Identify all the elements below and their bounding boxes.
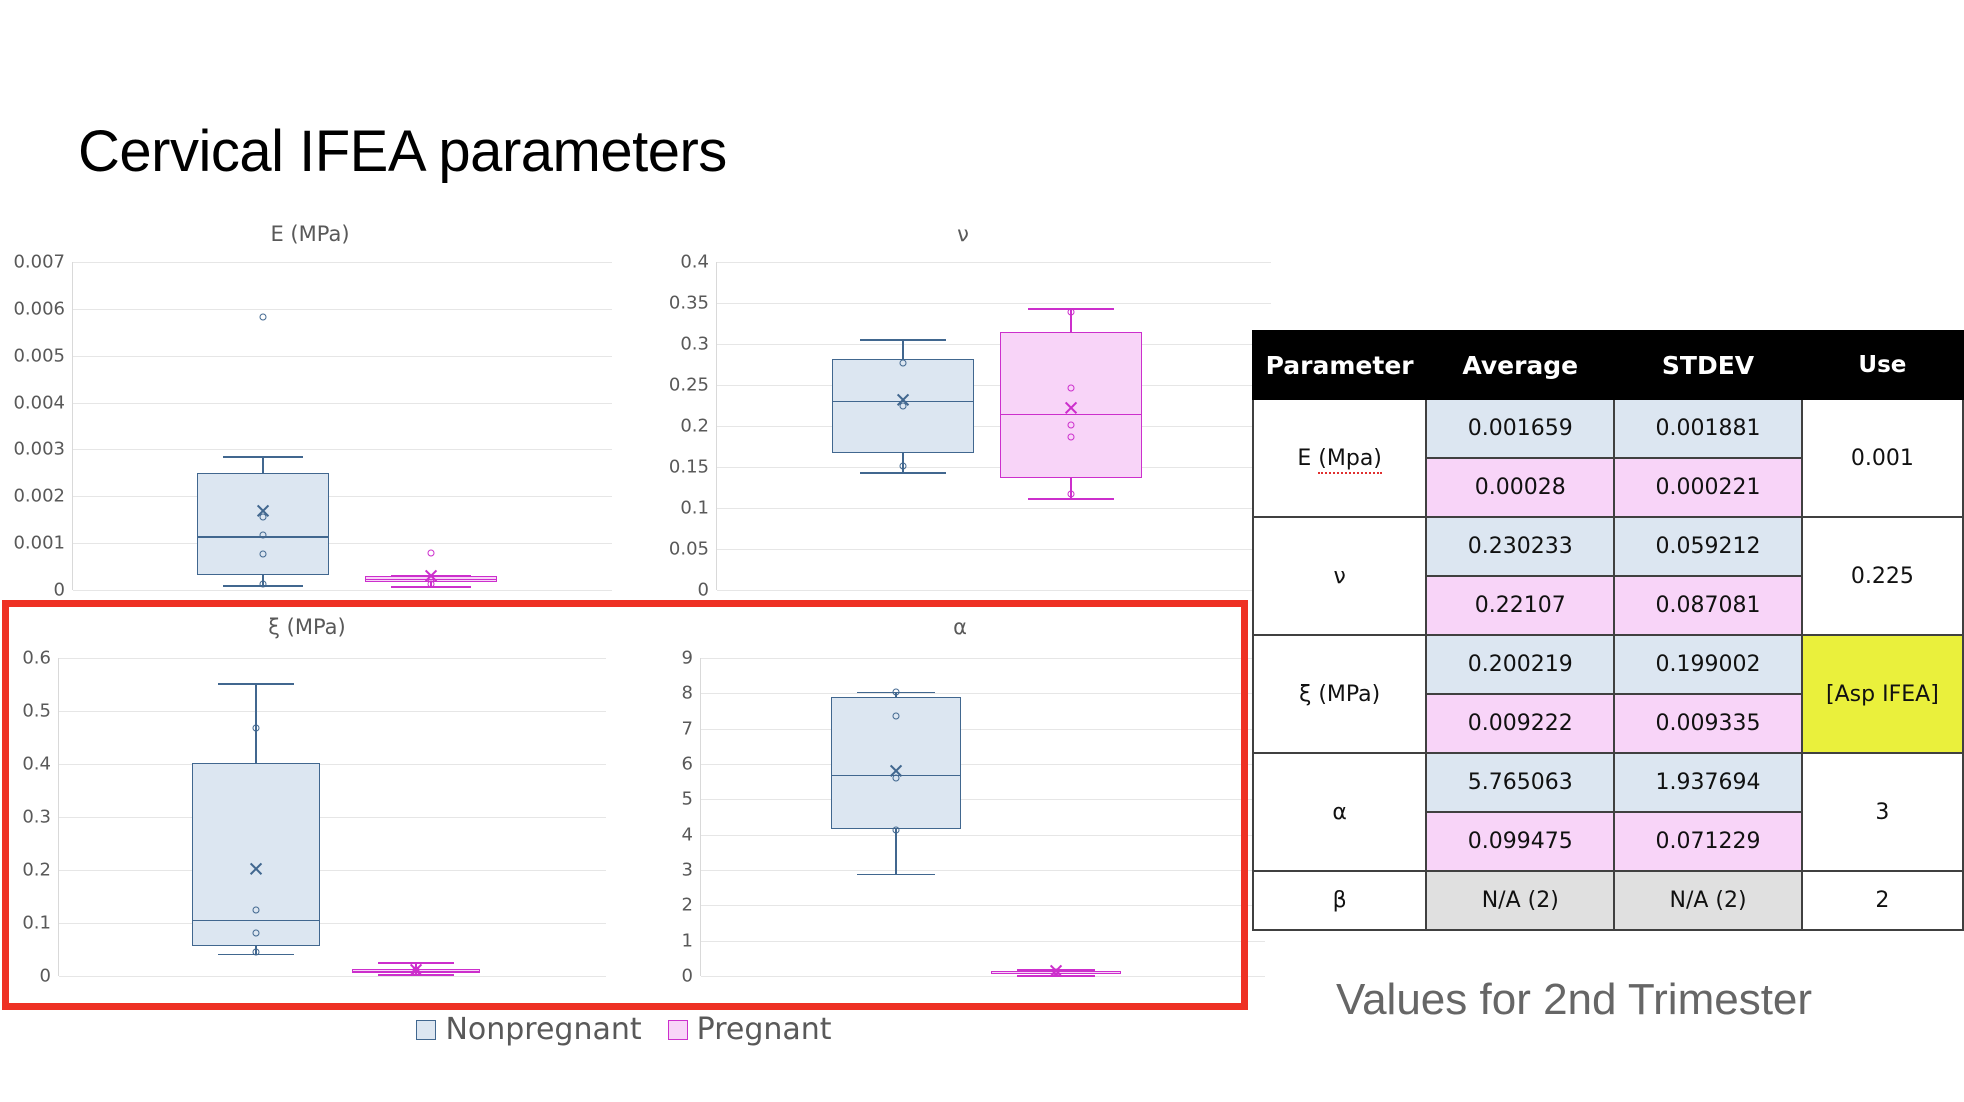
- y-axis-tick-label: 0.004: [13, 392, 65, 413]
- y-axis-tick-label: 2: [682, 895, 693, 916]
- col-header-use: Use: [1802, 331, 1963, 399]
- data-point: [1053, 969, 1060, 976]
- cell-average-pregnant: 0.22107: [1426, 576, 1614, 635]
- chart-title: ξ (MPa): [8, 615, 606, 639]
- cell-average-nonpregnant: 0.200219: [1426, 635, 1614, 694]
- data-point: [900, 359, 907, 366]
- cell-stdev-pregnant: 0.087081: [1614, 576, 1802, 635]
- y-axis-tick-label: 0.6: [22, 648, 51, 669]
- y-axis-tick-label: 0.15: [669, 457, 709, 478]
- y-axis-tick-label: 0.3: [680, 334, 709, 355]
- cell-average-pregnant: 0.099475: [1426, 812, 1614, 871]
- plot-area: 0123456789✕✕: [700, 658, 1265, 976]
- gridline: 0.003: [73, 449, 612, 450]
- gridline: 0.15: [717, 467, 1271, 468]
- legend-item-nonpregnant: Nonpregnant: [416, 1012, 641, 1047]
- cell-use: 2: [1802, 871, 1963, 930]
- data-point: [900, 402, 907, 409]
- y-axis-tick-label: 0: [40, 966, 51, 987]
- gridline: 0.05: [717, 549, 1271, 550]
- data-point: [893, 827, 900, 834]
- whisker-upper: [902, 339, 904, 359]
- gridline: 7: [701, 729, 1265, 730]
- data-point: [260, 514, 267, 521]
- y-axis-tick-label: 0.3: [22, 807, 51, 828]
- gridline: 0.1: [717, 508, 1271, 509]
- y-axis-tick-label: 0.006: [13, 298, 65, 319]
- gridline: 0.005: [73, 356, 612, 357]
- cell-average-nonpregnant: 0.001659: [1426, 399, 1614, 458]
- cell-use: 0.001: [1802, 399, 1963, 517]
- cell-stdev-pregnant: 0.071229: [1614, 812, 1802, 871]
- legend-swatch-icon: [668, 1020, 688, 1040]
- y-axis-tick-label: 0.35: [669, 293, 709, 314]
- table-header: Parameter Average STDEV Use: [1253, 331, 1963, 399]
- gridline: 6: [701, 764, 1265, 765]
- plot-area: 00.10.20.30.40.50.6✕✕: [58, 658, 606, 976]
- gridline: 0.3: [717, 344, 1271, 345]
- y-axis-tick-label: 0.4: [680, 252, 709, 273]
- table-row: ν0.2302330.0592120.225: [1253, 517, 1963, 576]
- data-point: [413, 969, 420, 976]
- table-caption: Values for 2nd Trimester: [1336, 975, 1812, 1025]
- gridline: 0.006: [73, 309, 612, 310]
- data-point: [260, 550, 267, 557]
- chart-legend: NonpregnantPregnant: [0, 1012, 1248, 1047]
- cap-upper: [860, 339, 945, 341]
- data-point: [260, 313, 267, 320]
- data-point: [1068, 309, 1075, 316]
- mean-marker: ✕: [247, 859, 265, 880]
- cap-upper: [218, 683, 295, 685]
- gridline: 0.002: [73, 496, 612, 497]
- y-axis-tick-label: 7: [682, 718, 693, 739]
- legend-label: Pregnant: [697, 1012, 832, 1047]
- col-header-stdev: STDEV: [1614, 331, 1802, 399]
- gridline: 0.4: [59, 764, 606, 765]
- y-axis-tick-label: 0.1: [680, 498, 709, 519]
- cap-lower: [857, 874, 935, 876]
- spellcheck-underline: (Mpa): [1318, 446, 1382, 474]
- data-point: [253, 930, 260, 937]
- y-axis-tick-label: 0.2: [22, 860, 51, 881]
- cell-average-na: N/A (2): [1426, 871, 1614, 930]
- table-row: ξ (MPa)0.2002190.199002[Asp IFEA]: [1253, 635, 1963, 694]
- cell-parameter: ν: [1253, 517, 1426, 635]
- data-point: [428, 549, 435, 556]
- y-axis-tick-label: 1: [682, 930, 693, 951]
- data-point: [893, 688, 900, 695]
- plot-area: 00.0010.0020.0030.0040.0050.0060.007✕✕: [72, 262, 612, 590]
- gridline: 0.001: [73, 543, 612, 544]
- y-axis-tick-label: 0.005: [13, 345, 65, 366]
- data-point: [893, 775, 900, 782]
- y-axis-tick-label: 0.2: [680, 416, 709, 437]
- median-line: [192, 920, 320, 922]
- gridline: 0.004: [73, 403, 612, 404]
- cell-use: 3: [1802, 753, 1963, 871]
- data-point: [260, 531, 267, 538]
- whisker-upper: [255, 683, 257, 764]
- gridline: 0.1: [59, 923, 606, 924]
- y-axis-tick-label: 0.4: [22, 754, 51, 775]
- whisker-upper: [262, 456, 264, 472]
- gridline: 0.007: [73, 262, 612, 263]
- legend-item-pregnant: Pregnant: [668, 1012, 832, 1047]
- col-header-average: Average: [1426, 331, 1614, 399]
- parameters-table: Parameter Average STDEV Use E (Mpa)0.001…: [1252, 330, 1964, 931]
- cell-average-pregnant: 0.00028: [1426, 458, 1614, 517]
- cell-stdev-pregnant: 0.009335: [1614, 694, 1802, 753]
- box-nonpregnant: [197, 473, 329, 575]
- y-axis-tick-label: 4: [682, 824, 693, 845]
- gridline: 0: [73, 590, 612, 591]
- y-axis-tick-label: 0.1: [22, 913, 51, 934]
- gridline: 1: [701, 941, 1265, 942]
- table-header-row: Parameter Average STDEV Use: [1253, 331, 1963, 399]
- cell-use: [Asp IFEA]: [1802, 635, 1963, 753]
- y-axis-tick-label: 5: [682, 789, 693, 810]
- cell-stdev-nonpregnant: 1.937694: [1614, 753, 1802, 812]
- table-row: E (Mpa)0.0016590.0018810.001: [1253, 399, 1963, 458]
- col-header-parameter: Parameter: [1253, 331, 1426, 399]
- y-axis-tick-label: 0.003: [13, 439, 65, 460]
- y-axis-tick-label: 0.002: [13, 486, 65, 507]
- y-axis-tick-label: 8: [682, 683, 693, 704]
- gridline: 5: [701, 799, 1265, 800]
- gridline: 8: [701, 693, 1265, 694]
- legend-swatch-icon: [416, 1020, 436, 1040]
- y-axis-tick-label: 6: [682, 754, 693, 775]
- data-point: [253, 948, 260, 955]
- cell-average-pregnant: 0.009222: [1426, 694, 1614, 753]
- data-point: [1068, 422, 1075, 429]
- data-point: [1068, 434, 1075, 441]
- table-row: βN/A (2)N/A (2)2: [1253, 871, 1963, 930]
- gridline: 0.4: [717, 262, 1271, 263]
- gridline: 0: [717, 590, 1271, 591]
- y-axis-tick-label: 0.5: [22, 701, 51, 722]
- gridline: 0.3: [59, 817, 606, 818]
- chart-title: ν: [655, 222, 1271, 246]
- plot-area: 00.050.10.150.20.250.30.350.4✕✕: [716, 262, 1271, 590]
- cap-upper: [223, 456, 302, 458]
- data-point: [893, 712, 900, 719]
- cell-average-nonpregnant: 0.230233: [1426, 517, 1614, 576]
- gridline: 0.2: [717, 426, 1271, 427]
- y-axis-tick-label: 0.25: [669, 375, 709, 396]
- data-point: [260, 580, 267, 587]
- gridline: 0.25: [717, 385, 1271, 386]
- gridline: 2: [701, 905, 1265, 906]
- mean-marker: ✕: [1062, 398, 1080, 419]
- gridline: 0: [59, 976, 606, 977]
- gridline: 0.6: [59, 658, 606, 659]
- data-point: [253, 907, 260, 914]
- cap-lower: [1028, 498, 1113, 500]
- gridline: 3: [701, 870, 1265, 871]
- gridline: 0: [701, 976, 1265, 977]
- y-axis-tick-label: 0: [698, 580, 709, 601]
- cell-use: 0.225: [1802, 517, 1963, 635]
- y-axis-tick-label: 0.05: [669, 539, 709, 560]
- y-axis-tick-label: 0: [682, 966, 693, 987]
- cap-lower: [860, 472, 945, 474]
- y-axis-tick-label: 0: [54, 580, 65, 601]
- gridline: 0.5: [59, 711, 606, 712]
- cell-stdev-pregnant: 0.000221: [1614, 458, 1802, 517]
- chart-title: α: [655, 615, 1265, 639]
- chart-title: E (MPa): [8, 222, 612, 246]
- data-point: [1068, 490, 1075, 497]
- cell-stdev-nonpregnant: 0.199002: [1614, 635, 1802, 694]
- table-body: E (Mpa)0.0016590.0018810.0010.000280.000…: [1253, 399, 1963, 930]
- legend-label: Nonpregnant: [445, 1012, 641, 1047]
- data-point: [900, 462, 907, 469]
- page-title: Cervical IFEA parameters: [78, 118, 727, 185]
- data-point: [1068, 384, 1075, 391]
- cell-average-nonpregnant: 5.765063: [1426, 753, 1614, 812]
- cell-stdev-nonpregnant: 0.059212: [1614, 517, 1802, 576]
- cell-parameter: ξ (MPa): [1253, 635, 1426, 753]
- data-point: [253, 725, 260, 732]
- whisker-lower: [895, 829, 897, 874]
- y-axis-tick-label: 3: [682, 860, 693, 881]
- y-axis-tick-label: 0.007: [13, 252, 65, 273]
- gridline: 0.35: [717, 303, 1271, 304]
- cell-stdev-na: N/A (2): [1614, 871, 1802, 930]
- cell-parameter: β: [1253, 871, 1426, 930]
- y-axis-tick-label: 9: [682, 648, 693, 669]
- cell-parameter: α: [1253, 753, 1426, 871]
- cell-parameter: E (Mpa): [1253, 399, 1426, 517]
- data-point: [428, 581, 435, 588]
- gridline: 9: [701, 658, 1265, 659]
- cell-stdev-nonpregnant: 0.001881: [1614, 399, 1802, 458]
- y-axis-tick-label: 0.001: [13, 533, 65, 554]
- gridline: 4: [701, 835, 1265, 836]
- table-row: α5.7650631.9376943: [1253, 753, 1963, 812]
- gridline: 0.2: [59, 870, 606, 871]
